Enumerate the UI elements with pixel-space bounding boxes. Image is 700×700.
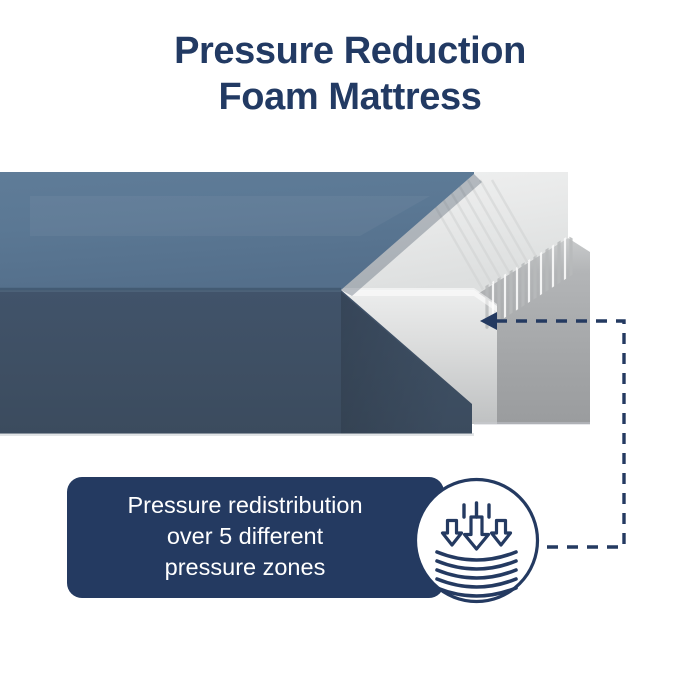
pressure-zones-icon-svg (412, 476, 541, 605)
infographic-root: Pressure Reduction Foam Mattress (0, 0, 700, 700)
callout-line-3: pressure zones (75, 552, 415, 583)
icon-circle-ring (416, 480, 538, 602)
cover-sheen (30, 196, 430, 236)
callout-text: Pressure redistribution over 5 different… (75, 490, 415, 583)
foam-contact-shadow (474, 422, 590, 425)
pressure-zones-icon (412, 476, 541, 605)
mattress-contact-shadow (0, 433, 474, 436)
callout-line-1: Pressure redistribution (75, 490, 415, 521)
callout-banner: Pressure redistribution over 5 different… (67, 477, 444, 598)
callout-line-2: over 5 different (75, 521, 415, 552)
